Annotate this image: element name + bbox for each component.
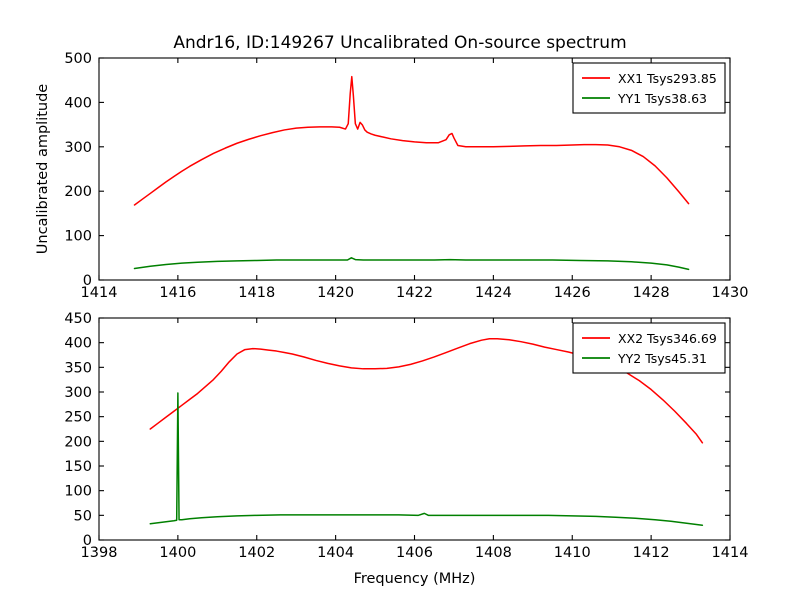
spectrum-figure: Andr16, ID:149267 Uncalibrated On-source… [0,0,800,600]
y-tick-label: 300 [64,140,92,156]
chart-panel-bottom: 1398140014021404140614081410141214140501… [64,311,748,587]
x-tick-label: 1402 [238,545,275,561]
y-tick-label: 400 [64,336,92,352]
x-tick-label: 1414 [712,545,749,561]
x-tick-label: 1422 [396,285,433,301]
y-tick-label: 200 [64,434,92,450]
y-tick-label: 400 [64,95,92,111]
y-tick-label: 300 [64,385,92,401]
page-title: Andr16, ID:149267 Uncalibrated On-source… [173,33,626,53]
legend-label-yy: YY2 Tsys45.31 [617,351,707,366]
y-tick-label: 200 [64,184,92,200]
y-tick-label: 0 [83,273,92,289]
x-tick-label: 1418 [238,285,275,301]
y-tick-label: 250 [64,410,92,426]
x-tick-label: 1430 [712,285,749,301]
x-axis-label: Frequency (MHz) [354,571,476,587]
legend-label-yy: YY1 Tsys38.63 [617,91,707,106]
y-tick-label: 150 [64,459,92,475]
y-tick-label: 100 [64,484,92,500]
figure-canvas: Andr16, ID:149267 Uncalibrated On-source… [0,0,800,600]
y-tick-label: 100 [64,229,92,245]
x-tick-label: 1404 [317,545,354,561]
x-tick-label: 1428 [633,285,670,301]
y-tick-label: 0 [83,533,92,549]
x-tick-label: 1416 [159,285,196,301]
y-tick-label: 500 [64,51,92,67]
x-tick-label: 1412 [633,545,670,561]
legend-label-xx: XX2 Tsys346.69 [618,331,717,346]
x-tick-label: 1406 [396,545,433,561]
chart-panel-top: 1414141614181420142214241426142814300100… [35,51,748,301]
x-tick-label: 1400 [159,545,196,561]
y-axis-label: Uncalibrated amplitude [35,84,51,255]
y-tick-label: 450 [64,311,92,327]
y-tick-label: 50 [74,508,92,524]
legend-label-xx: XX1 Tsys293.85 [618,71,717,86]
x-tick-label: 1420 [317,285,354,301]
x-tick-label: 1426 [554,285,591,301]
x-tick-label: 1424 [475,285,512,301]
x-tick-label: 1410 [554,545,591,561]
x-tick-label: 1408 [475,545,512,561]
y-tick-label: 350 [64,360,92,376]
